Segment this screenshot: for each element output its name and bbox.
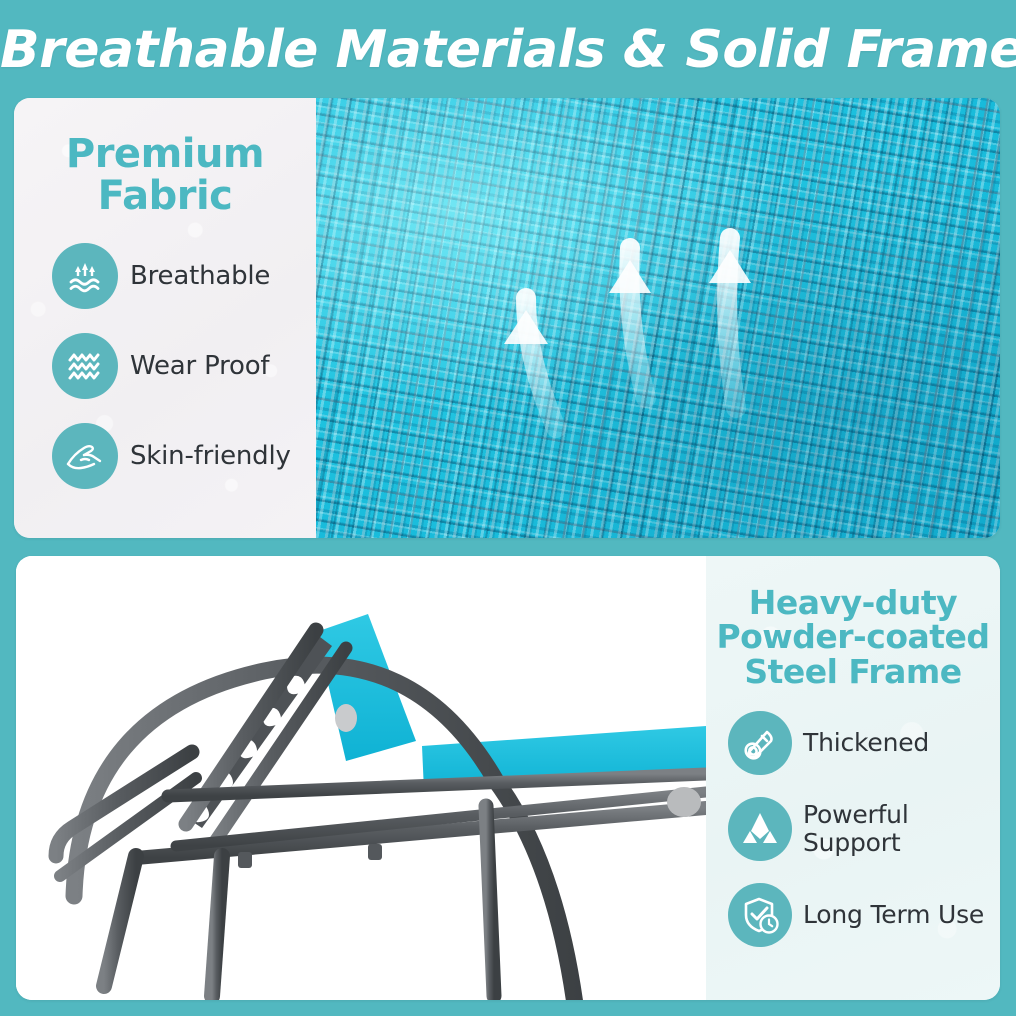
feature-row-powerful-support: Powerful Support — [706, 797, 1000, 861]
feature-label-thickened: Thickened — [803, 729, 929, 757]
shield-clock-icon — [728, 883, 792, 947]
feature-row-skin-friendly: Skin-friendly — [14, 423, 316, 489]
chaise-lounge-illustration — [16, 556, 706, 1000]
fabric-closeup-photo — [316, 98, 1000, 538]
infographic-stage: Breathable Materials & Solid Frame Premi… — [0, 0, 1016, 1016]
panel-premium-fabric: Premium Fabric — [14, 98, 1000, 538]
feature-label-long-term-use: Long Term Use — [803, 901, 984, 929]
mountain-support-icon — [728, 797, 792, 861]
feature-row-long-term-use: Long Term Use — [706, 883, 1000, 947]
feature-label-wear-proof: Wear Proof — [130, 352, 269, 381]
frame-feature-list: Thickened Powerful Support — [706, 711, 1000, 947]
chair-frame-photo — [16, 556, 706, 1000]
zigzag-weave-icon — [52, 333, 118, 399]
feature-label-breathable: Breathable — [130, 262, 270, 291]
fabric-feature-list: Breathable Wear Proof — [14, 243, 316, 489]
fabric-heading: Premium Fabric — [28, 134, 302, 217]
feature-row-wear-proof: Wear Proof — [14, 333, 316, 399]
fabric-text-column: Premium Fabric — [14, 98, 316, 538]
panel-steel-frame: Heavy-duty Powder-coated Steel Frame — [16, 556, 1000, 1000]
page-title: Breathable Materials & Solid Frame — [0, 20, 1016, 80]
feature-label-skin-friendly: Skin-friendly — [130, 442, 291, 471]
hand-touch-icon — [52, 423, 118, 489]
frame-text-column: Heavy-duty Powder-coated Steel Frame — [706, 556, 1000, 1000]
airflow-waves-icon — [52, 243, 118, 309]
feature-row-breathable: Breathable — [14, 243, 316, 309]
feature-label-powerful-support: Powerful Support — [803, 801, 1000, 856]
feature-row-thickened: Thickened — [706, 711, 1000, 775]
steel-tube-icon — [728, 711, 792, 775]
frame-heading: Heavy-duty Powder-coated Steel Frame — [714, 586, 992, 689]
airflow-arrows-overlay — [316, 98, 1000, 538]
